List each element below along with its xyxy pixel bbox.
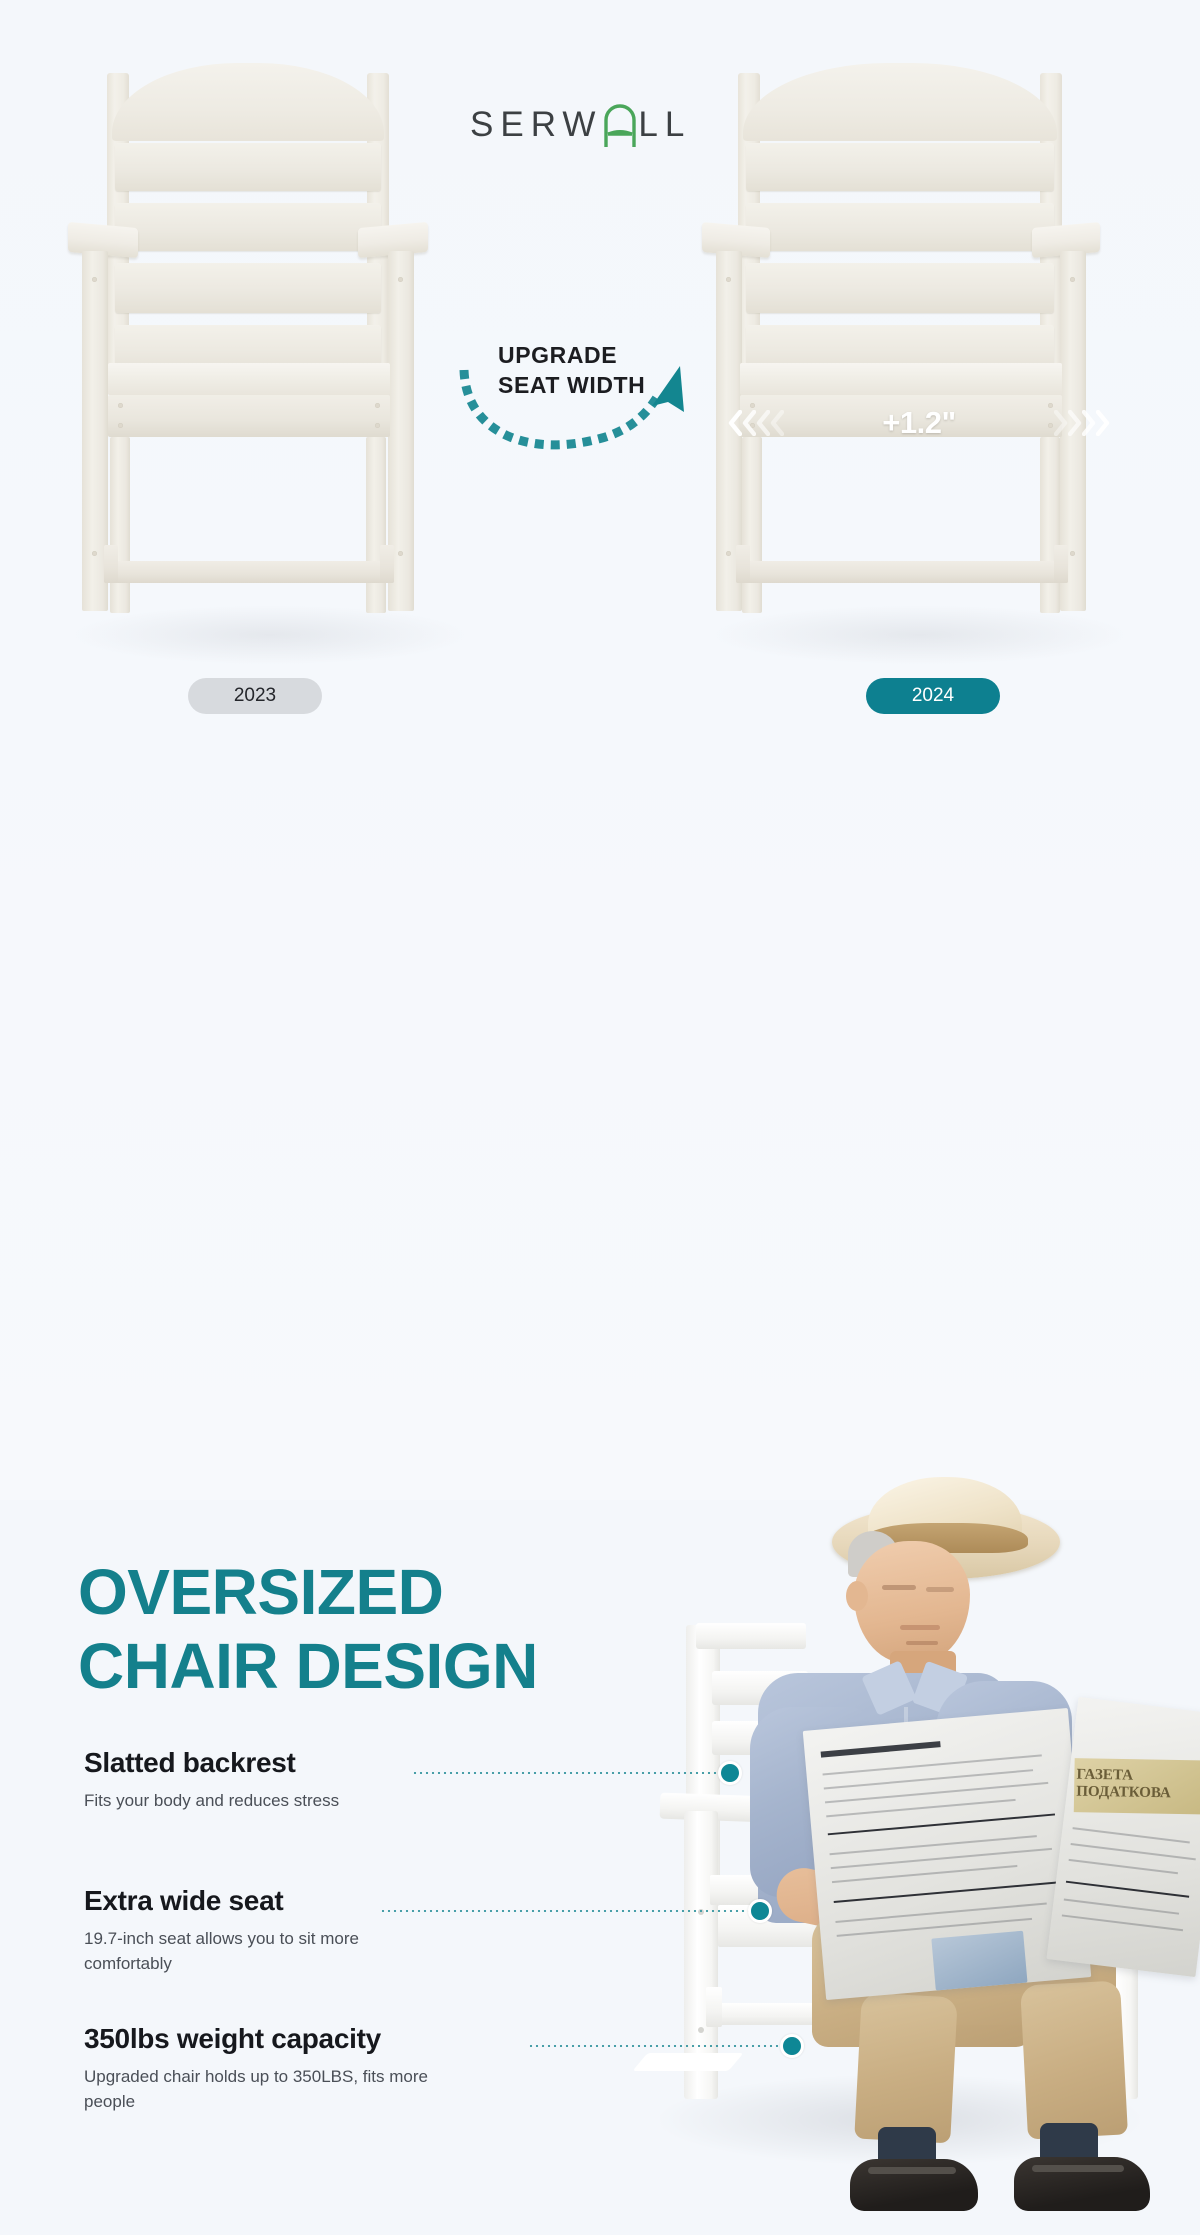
chevron-right-icon xyxy=(1096,410,1110,436)
feature-title: Slatted backrest xyxy=(84,1747,339,1779)
brand-logo-right: LL xyxy=(638,105,691,145)
upgrade-callout-text: UPGRADE SEAT WIDTH xyxy=(498,340,678,400)
ear xyxy=(846,1581,868,1611)
chevron-right-icon xyxy=(1054,410,1068,436)
brand-logo-left: SERW xyxy=(470,105,602,145)
brand-logo: SERW LL xyxy=(470,98,700,150)
chair-arch-a-icon xyxy=(603,103,637,145)
leader-line-3 xyxy=(528,2045,790,2047)
chair-2024-image xyxy=(700,45,1130,665)
lifestyle-photo: ГАЗЕТА ПОДАТКОВА xyxy=(600,1475,1200,2235)
leader-line-1 xyxy=(412,1772,728,1774)
seat-width-value: +1.2" xyxy=(882,405,955,441)
feature-subtitle: Upgraded chair holds up to 350LBS, fits … xyxy=(84,2064,464,2114)
comparison-section: SERW LL xyxy=(0,0,1200,735)
feature-marker-1 xyxy=(718,1761,742,1785)
leader-line-2 xyxy=(380,1910,758,1912)
shin-right xyxy=(1020,1980,1128,2139)
feature-title: 350lbs weight capacity xyxy=(84,2023,464,2055)
feature-marker-3 xyxy=(780,2034,804,2058)
feature-subtitle: Fits your body and reduces stress xyxy=(84,1788,339,1813)
upgrade-line-2: SEAT WIDTH xyxy=(498,370,678,400)
upgrade-callout: UPGRADE SEAT WIDTH xyxy=(452,326,702,466)
chevron-left-icon xyxy=(770,410,784,436)
chevron-right-icon xyxy=(1082,410,1096,436)
year-badge-2024-label: 2024 xyxy=(912,685,954,707)
feature-subtitle: 19.7-inch seat allows you to sit more co… xyxy=(84,1926,404,1976)
features-headline: OVERSIZED CHAIR DESIGN xyxy=(78,1555,638,1703)
chevron-left-group xyxy=(728,410,784,436)
shin-left xyxy=(854,1993,958,2144)
feature-item-slatted-backrest: Slatted backrest Fits your body and redu… xyxy=(84,1747,339,1813)
headline-line-1: OVERSIZED xyxy=(78,1555,638,1629)
chevron-right-group xyxy=(1054,410,1110,436)
feature-title: Extra wide seat xyxy=(84,1885,404,1917)
year-badge-2024: 2024 xyxy=(866,678,1000,714)
feature-item-extra-wide-seat: Extra wide seat 19.7-inch seat allows yo… xyxy=(84,1885,404,1976)
chevron-left-icon xyxy=(742,410,756,436)
seat-surface xyxy=(740,363,1062,395)
chair-top-rail xyxy=(696,1623,806,1649)
year-badge-2023-label: 2023 xyxy=(234,685,276,707)
infographic-page: SERW LL xyxy=(0,0,1200,1500)
seat-surface xyxy=(108,363,390,395)
year-badge-2023: 2023 xyxy=(188,678,322,714)
chevron-right-icon xyxy=(1068,410,1082,436)
feature-marker-2 xyxy=(748,1899,772,1923)
features-section: ГАЗЕТА ПОДАТКОВА OVERSIZED CHAIR DESIGN … xyxy=(0,735,1200,1500)
chevron-left-icon xyxy=(756,410,770,436)
newspaper-masthead: ГАЗЕТА ПОДАТКОВА xyxy=(1076,1767,1200,1803)
newspaper-photo xyxy=(931,1931,1027,1991)
seat-width-band: +1.2" xyxy=(728,404,1110,442)
upgrade-line-1: UPGRADE xyxy=(498,340,678,370)
brand-logo-text: SERW LL xyxy=(470,103,691,145)
feature-item-weight-capacity: 350lbs weight capacity Upgraded chair ho… xyxy=(84,2023,464,2114)
chair-2023-image xyxy=(60,45,470,665)
headline-line-2: CHAIR DESIGN xyxy=(78,1629,638,1703)
chevron-left-icon xyxy=(728,410,742,436)
